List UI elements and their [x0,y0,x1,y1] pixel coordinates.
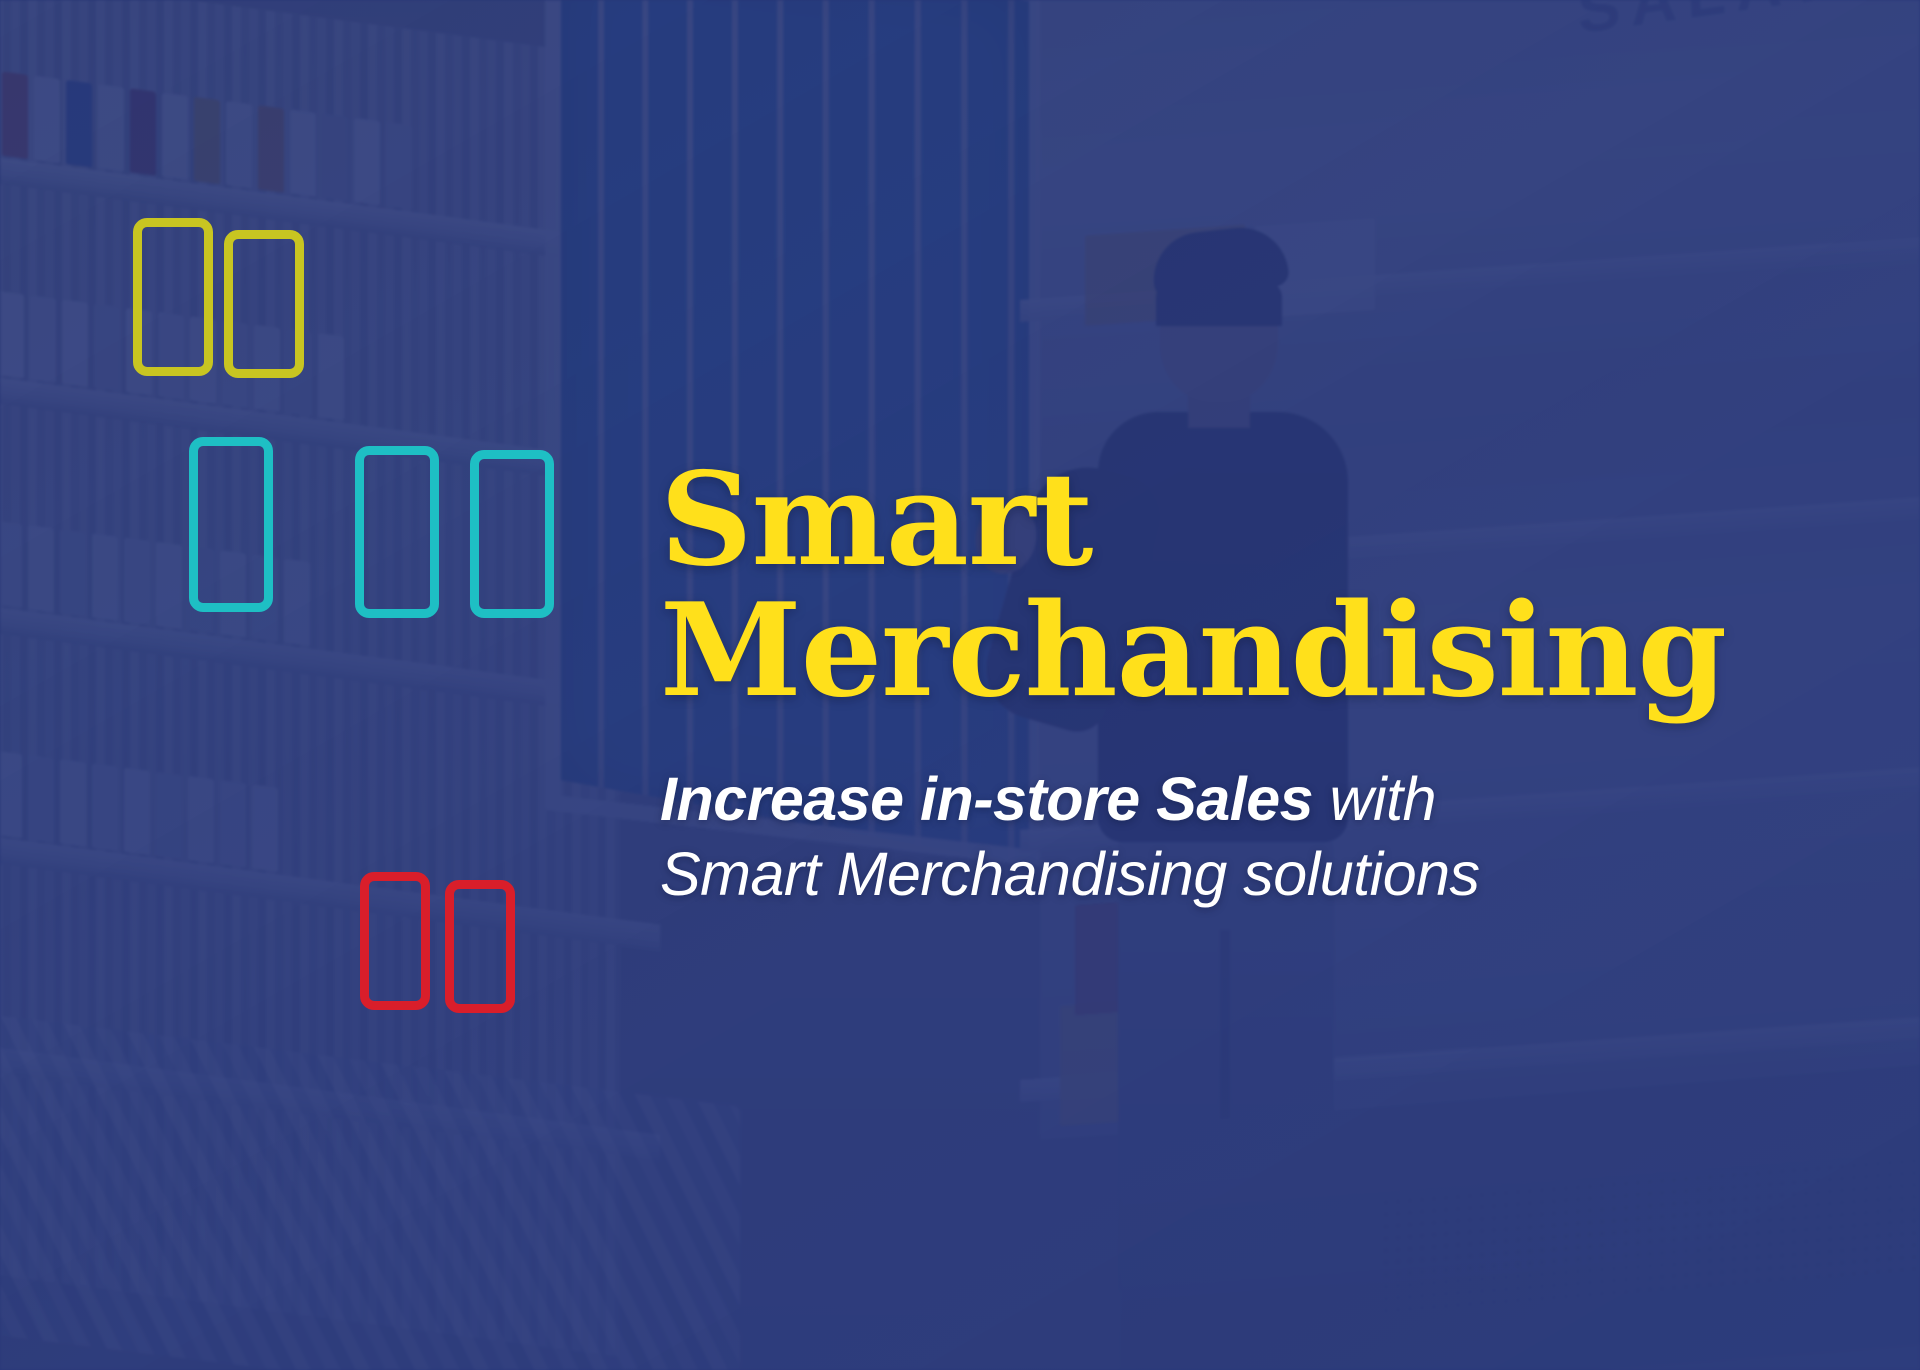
page-title: Smart Merchandising [660,455,1790,716]
detection-box-teal-group [189,437,273,612]
detection-box-yellow-group [133,218,213,376]
hero-subtitle: Increase in-store Sales with Smart Merch… [660,762,1790,911]
hero-banner: SALATE Smart Merchandising Increase in-s [0,0,1920,1370]
headline-line-1: Smart [660,455,1790,586]
detection-box-teal-group [355,446,439,618]
detection-box-red-group [445,880,515,1013]
hero-copy: Smart Merchandising Increase in-store Sa… [660,455,1790,911]
headline-line-2: Merchandising [660,586,1790,717]
subtitle-emphasis: Increase in-store Sales [660,765,1313,833]
detection-box-red-group [360,872,430,1010]
detection-box-teal-group [470,450,554,618]
subtitle-line-1-tail: with [1313,765,1436,833]
subtitle-line-2: Smart Merchandising solutions [660,837,1790,911]
detection-box-yellow-group [224,230,304,378]
